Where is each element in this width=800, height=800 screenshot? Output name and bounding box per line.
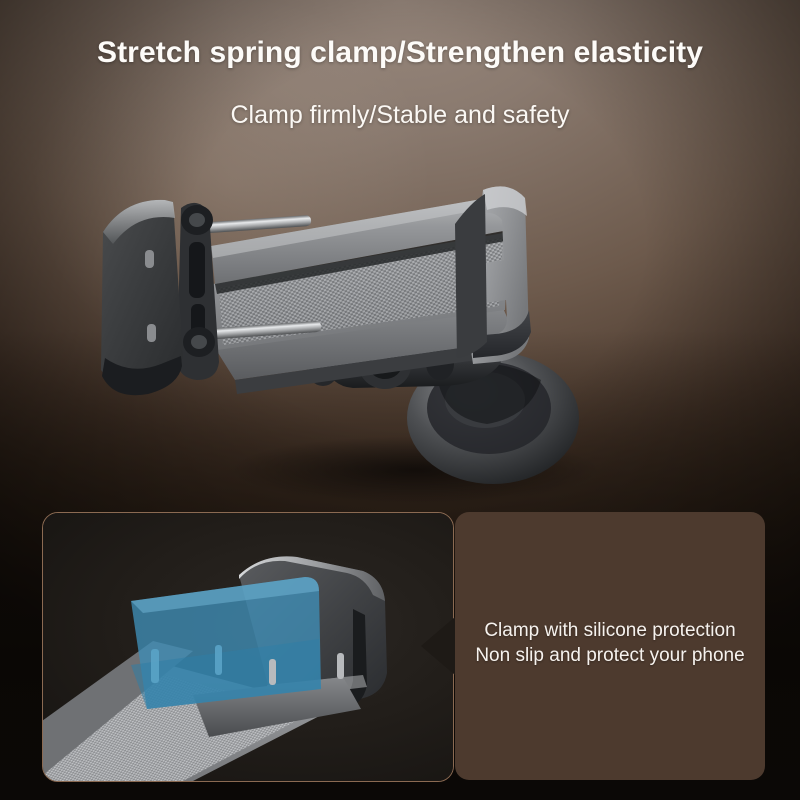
detail-caption: Clamp with silicone protection Non slip …: [455, 618, 765, 668]
detail-tab-1: [269, 659, 276, 685]
detail-closeup-panel: [42, 512, 454, 782]
product-marketing-image: Stretch spring clamp/Strengthen elastici…: [0, 0, 800, 800]
caption-line-2: Non slip and protect your phone: [455, 643, 765, 668]
silicone-pad-highlight: [131, 577, 321, 709]
left-clamp-jaw: [101, 200, 219, 395]
page-title: Stretch spring clamp/Strengthen elastici…: [0, 36, 800, 70]
page-subtitle: Clamp firmly/Stable and safety: [0, 101, 800, 130]
caption-line-1: Clamp with silicone protection: [484, 620, 735, 641]
detail-tab-2: [337, 653, 344, 679]
right-clamp-hook: [455, 186, 531, 364]
product-hero-image: [85, 180, 625, 500]
